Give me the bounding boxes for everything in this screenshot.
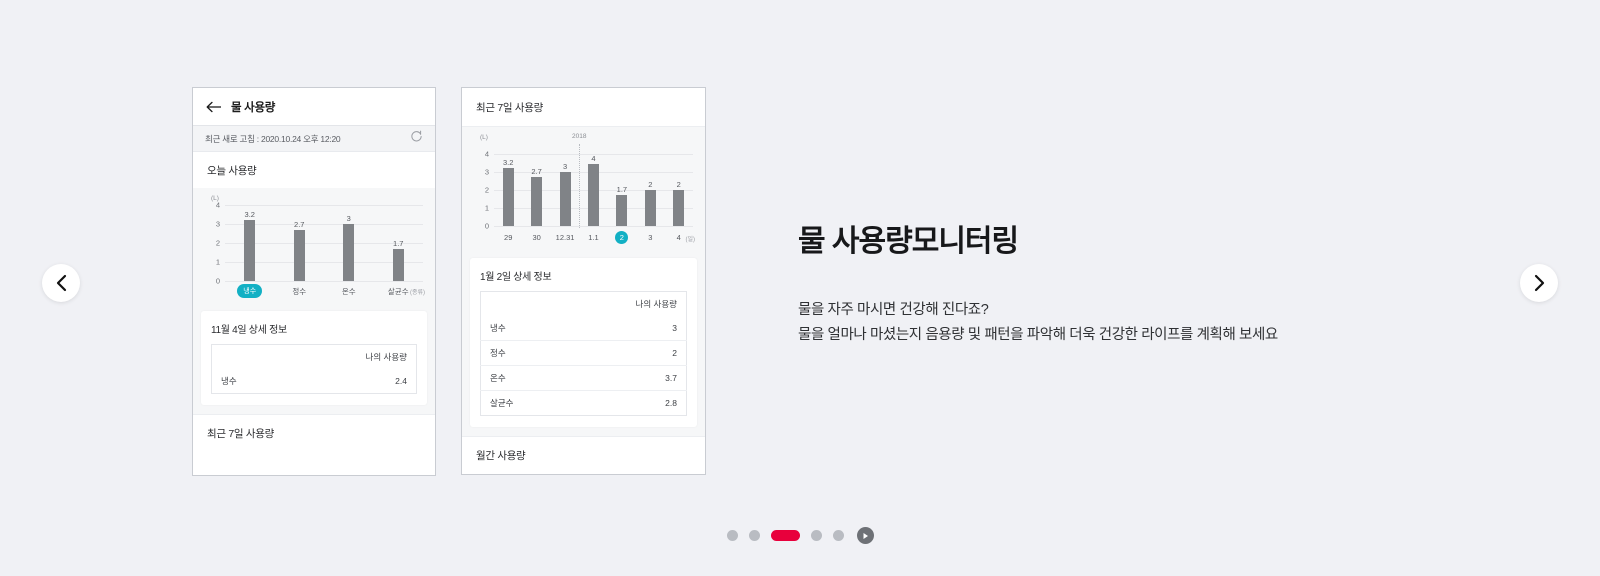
table-row: 냉수3 [481, 316, 687, 341]
bar [244, 220, 255, 281]
y-tick: 1 [485, 204, 489, 213]
bar-value-label: 2 [677, 180, 681, 189]
today-usage-heading: 오늘 사용량 [193, 152, 435, 188]
row-value: 2 [565, 341, 686, 366]
carousel-dot-1[interactable] [727, 530, 738, 541]
chart-b-plot: 3.22.7341.722 [494, 154, 693, 226]
refresh-icon[interactable] [410, 130, 423, 148]
chevron-left-icon [55, 274, 68, 292]
last-7-days-card-heading: 최근 7일 사용량 [462, 88, 705, 127]
bar-value-label: 2.7 [294, 220, 304, 229]
x-tick-label[interactable]: 냉수 [225, 284, 275, 298]
y-tick: 4 [485, 150, 489, 159]
today-usage-chart: (L) 4 3 2 1 0 3.22.731.7 냉수정수온수살균수 (종류) [193, 188, 435, 305]
table-row: 냉수2.4 [212, 369, 417, 394]
refresh-bar: 최근 새로 고침 : 2020.10.24 오후 12:20 [193, 126, 435, 152]
last-7-days-chart: (L) 4 3 2 1 0 2018 3.22.7341.722 293012.… [462, 127, 705, 252]
row-value: 3 [565, 316, 686, 341]
selected-category-badge: 냉수 [237, 284, 262, 298]
row-label: 냉수 [212, 369, 286, 394]
y-tick: 0 [216, 277, 220, 286]
x-tick-label[interactable]: 온수 [324, 286, 374, 297]
bar [531, 177, 542, 226]
table-header-blank [212, 345, 286, 370]
bar-value-label: 2.7 [531, 167, 541, 176]
chevron-right-icon [1533, 274, 1546, 292]
chart-b-x-unit: (일) [685, 234, 695, 243]
play-icon [862, 532, 869, 540]
x-tick-label[interactable]: 30 [522, 233, 550, 242]
chart-a-y-axis: 4 3 2 1 0 [201, 205, 223, 281]
bar [560, 172, 571, 226]
chart-a-plot: 3.22.731.7 [225, 205, 423, 281]
bar-value-label: 3 [563, 162, 567, 171]
y-tick: 3 [216, 220, 220, 229]
promo-heading: 물 사용량모니터링 [798, 216, 1498, 260]
carousel-dot-4[interactable] [811, 530, 822, 541]
carousel-pagination [0, 527, 1600, 544]
promo-line-2: 물을 얼마나 마셨는지 음용량 및 패턴을 파악해 더욱 건강한 라이프를 계획… [798, 323, 1498, 348]
promo-copy: 물 사용량모니터링 물을 자주 마시면 건강해 진다죠? 물을 얼마나 마셨는지… [798, 216, 1498, 348]
x-tick-label[interactable]: 29 [494, 233, 522, 242]
bar-value-label: 3 [347, 214, 351, 223]
bar-group[interactable]: 3 [324, 205, 374, 281]
promo-line-1: 물을 자주 마시면 건강해 진다죠? [798, 298, 1498, 323]
last-refresh-timestamp: 최근 새로 고침 : 2020.10.24 오후 12:20 [205, 133, 340, 145]
bar-group[interactable]: 1.7 [374, 205, 424, 281]
bar-value-label: 2 [648, 180, 652, 189]
carousel-dot-3[interactable] [771, 530, 800, 541]
chart-b-x-axis: 293012.311.1234 [494, 226, 693, 248]
carousel-prev-button[interactable] [42, 264, 80, 302]
carousel-next-button[interactable] [1520, 264, 1558, 302]
y-tick: 1 [216, 258, 220, 267]
row-label: 살균수 [481, 391, 566, 416]
x-tick-label[interactable]: 2 [608, 231, 636, 244]
y-tick: 2 [485, 186, 489, 195]
row-label: 냉수 [481, 316, 566, 341]
arrow-left-icon[interactable] [206, 101, 222, 113]
bar-group[interactable]: 2 [665, 154, 693, 226]
bar-value-label: 3.2 [245, 210, 255, 219]
chart-b-y-unit: (L) [480, 134, 488, 141]
last-7-days-heading: 최근 7일 사용량 [193, 414, 435, 451]
bar-group[interactable]: 1.7 [608, 154, 636, 226]
bar [616, 195, 627, 226]
bar-group[interactable]: 4 [579, 154, 607, 226]
monthly-usage-heading: 월간 사용량 [462, 436, 705, 473]
y-tick: 3 [485, 168, 489, 177]
table-header-my-usage: 나의 사용량 [565, 292, 686, 317]
bar-group[interactable]: 3.2 [225, 205, 275, 281]
y-tick: 4 [216, 201, 220, 210]
usage-table: 나의 사용량 냉수3정수2온수3.7살균수2.8 [480, 291, 687, 416]
row-label: 온수 [481, 366, 566, 391]
x-tick-label[interactable]: 3 [636, 233, 664, 242]
carousel-dot-2[interactable] [749, 530, 760, 541]
bar-group[interactable]: 3.2 [494, 154, 522, 226]
y-tick: 2 [216, 239, 220, 248]
bar [343, 224, 354, 281]
chart-b-y-axis: 4 3 2 1 0 [470, 154, 492, 226]
row-label: 정수 [481, 341, 566, 366]
table-row: 온수3.7 [481, 366, 687, 391]
phone-mockup-last-7-days: 최근 7일 사용량 (L) 4 3 2 1 0 2018 3.22.7341.7… [461, 87, 706, 475]
bar [294, 230, 305, 281]
bar [588, 164, 599, 226]
x-tick-label[interactable]: 정수 [275, 286, 325, 297]
bar [503, 168, 514, 226]
bar-value-label: 1.7 [617, 185, 627, 194]
y-tick: 0 [485, 222, 489, 231]
carousel-dot-5[interactable] [833, 530, 844, 541]
detail-title: 11월 4일 상세 정보 [211, 321, 417, 336]
detail-section-a: 11월 4일 상세 정보 나의 사용량 냉수2.4 [193, 305, 435, 414]
row-value: 2.8 [565, 391, 686, 416]
bar-group[interactable]: 2.7 [522, 154, 550, 226]
page-title: 물 사용량 [231, 99, 275, 115]
row-value: 2.4 [286, 369, 417, 394]
table-header-row: 나의 사용량 [481, 292, 687, 317]
detail-title: 1월 2일 상세 정보 [480, 268, 687, 283]
chart-a-x-unit: (종류) [410, 287, 425, 296]
x-tick-label[interactable]: 1.1 [579, 233, 607, 242]
selected-category-badge: 2 [615, 231, 628, 244]
table-header-blank [481, 292, 566, 317]
bar-value-label: 3.2 [503, 158, 513, 167]
bar [673, 190, 684, 226]
row-value: 3.7 [565, 366, 686, 391]
chart-a-x-axis: 냉수정수온수살균수 [225, 281, 423, 301]
usage-table: 나의 사용량 냉수2.4 [211, 344, 417, 394]
table-header-my-usage: 나의 사용량 [286, 345, 417, 370]
bar-group[interactable]: 3 [551, 154, 579, 226]
detail-section-b: 1월 2일 상세 정보 나의 사용량 냉수3정수2온수3.7살균수2.8 [462, 252, 705, 436]
bar [645, 190, 656, 226]
bar-value-label: 4 [591, 154, 595, 163]
table-row: 살균수2.8 [481, 391, 687, 416]
phone-mockup-water-usage: 물 사용량 최근 새로 고침 : 2020.10.24 오후 12:20 오늘 … [192, 87, 436, 476]
year-annotation: 2018 [572, 133, 586, 140]
table-header-row: 나의 사용량 [212, 345, 417, 370]
bar-group[interactable]: 2 [636, 154, 664, 226]
x-tick-label[interactable]: 12.31 [551, 233, 579, 242]
carousel-play-button[interactable] [857, 527, 874, 544]
app-bar: 물 사용량 [193, 88, 435, 126]
bar-value-label: 1.7 [393, 239, 403, 248]
table-row: 정수2 [481, 341, 687, 366]
bar-group[interactable]: 2.7 [275, 205, 325, 281]
bar [393, 249, 404, 281]
